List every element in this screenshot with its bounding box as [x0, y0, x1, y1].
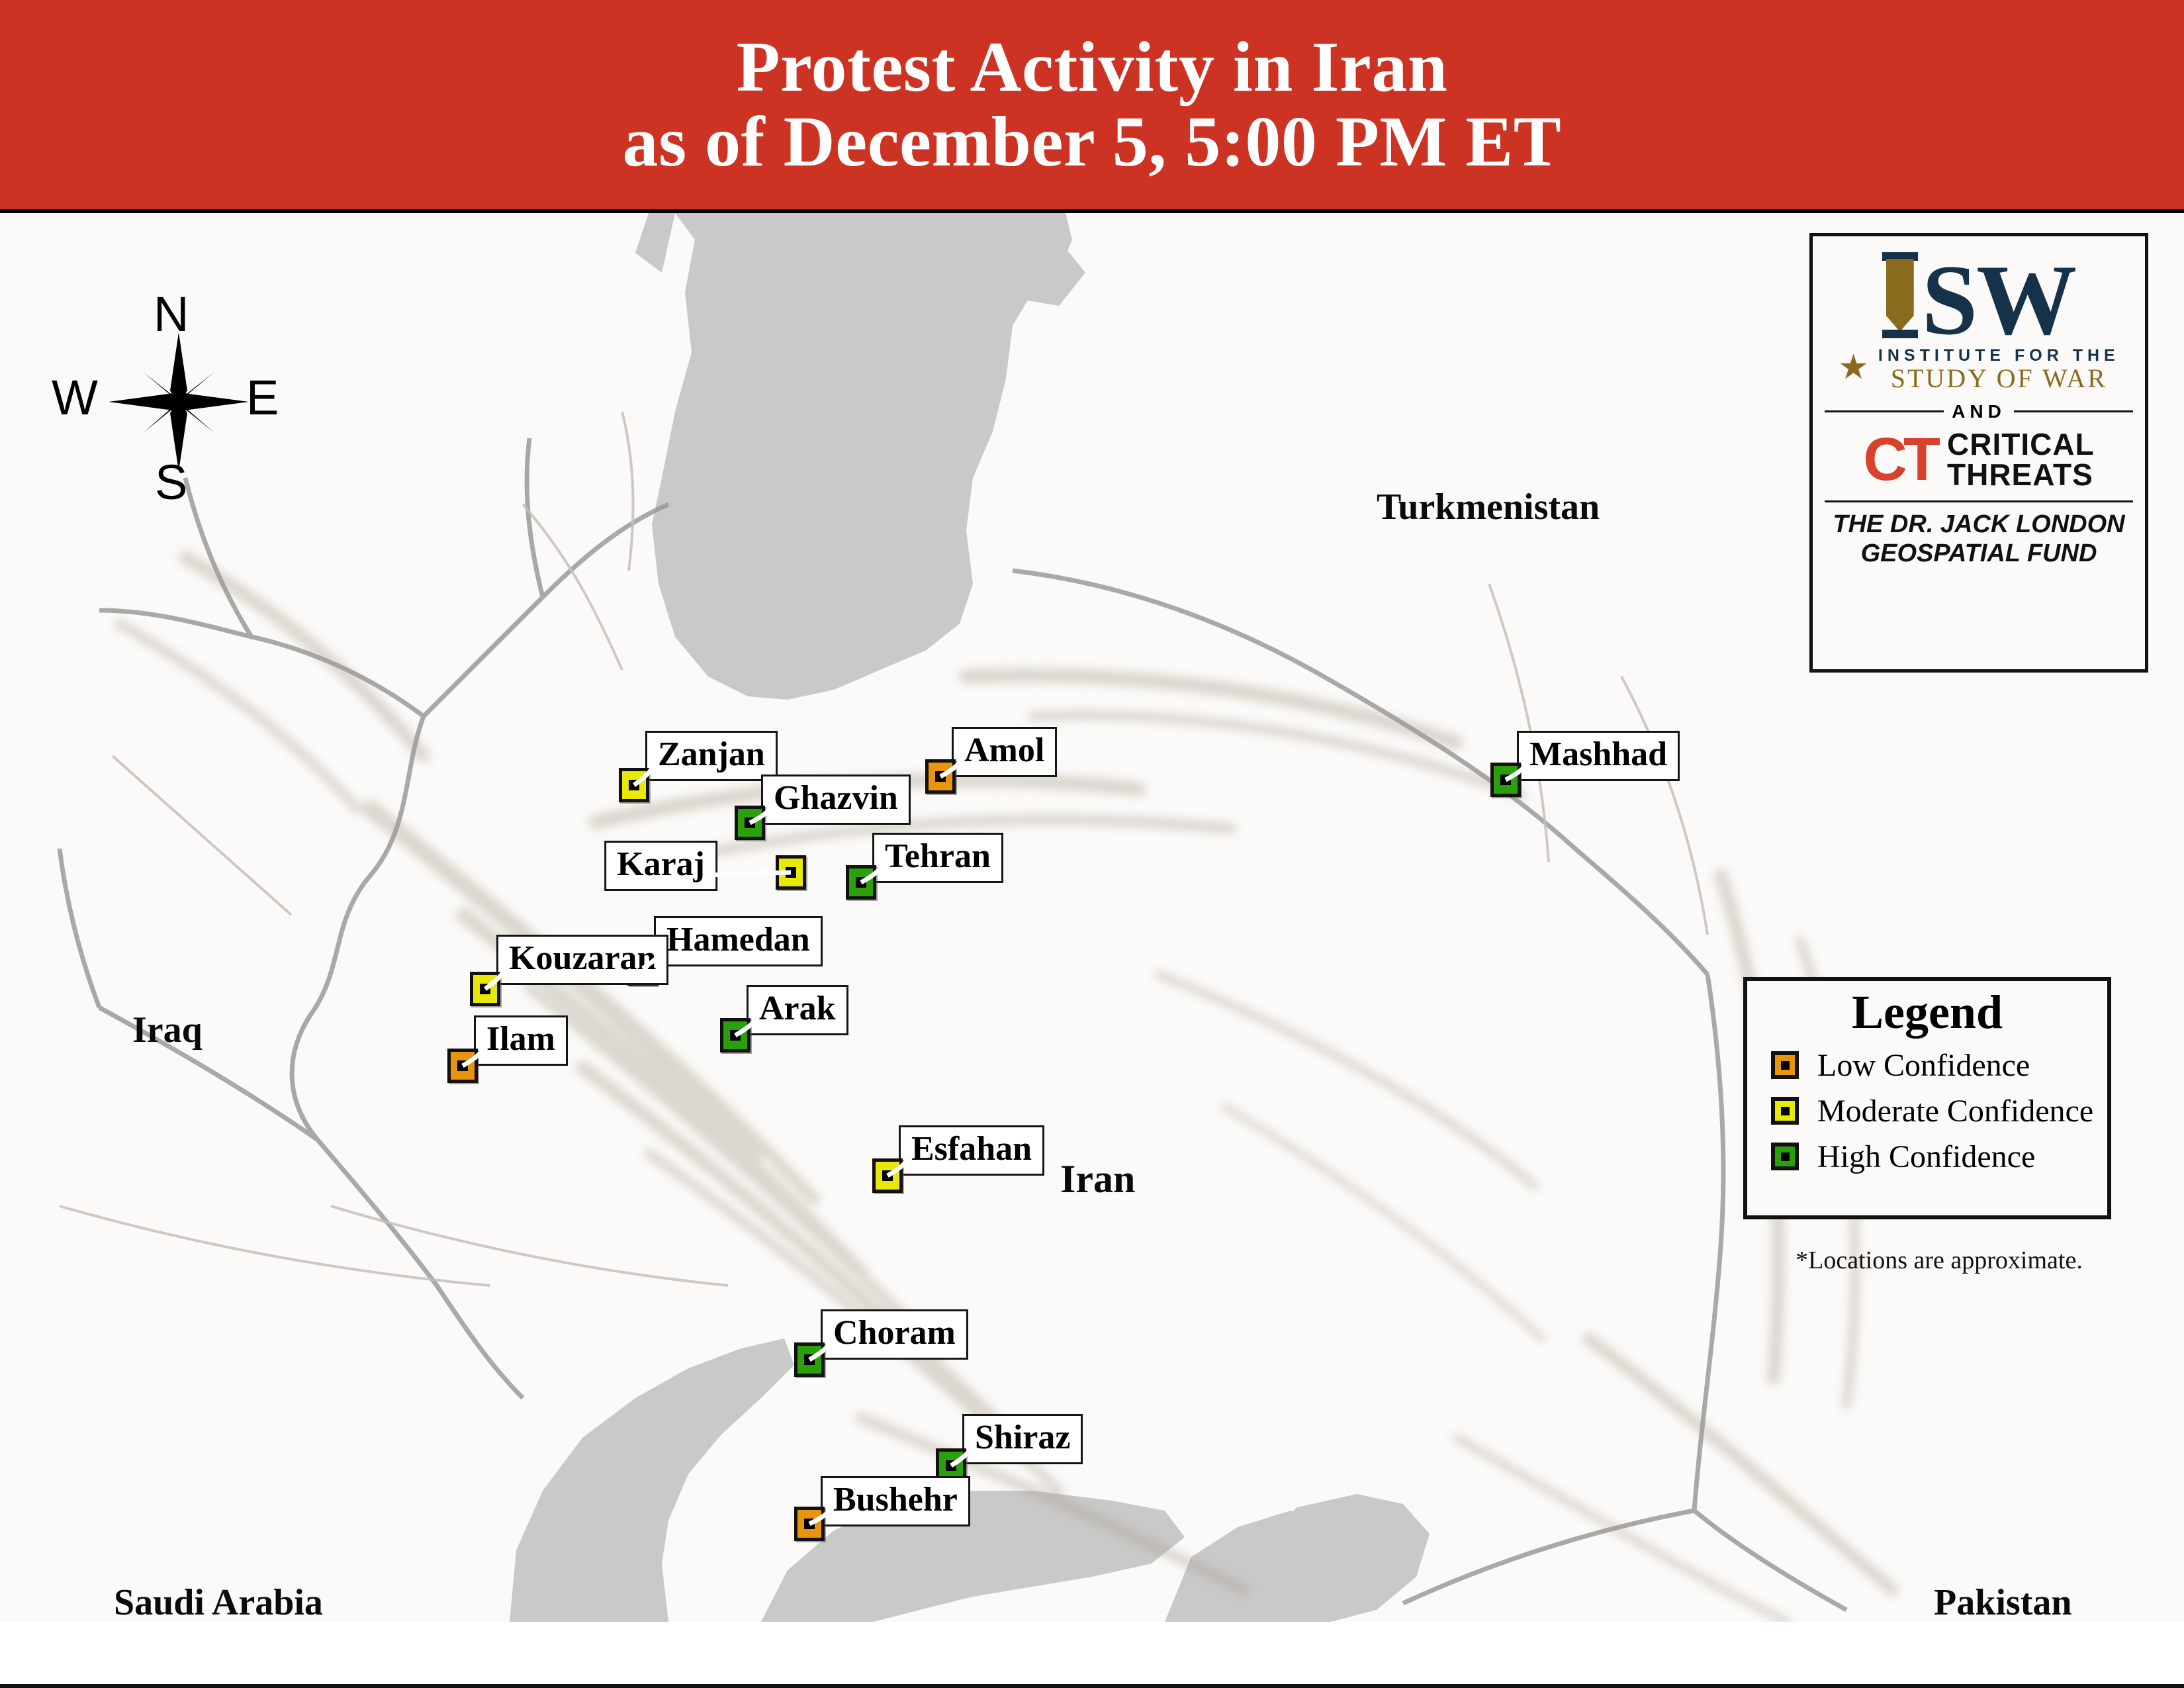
legend-swatch-center-dot: [1781, 1061, 1790, 1070]
compass-label-south: S: [155, 458, 187, 507]
site-callout-choram[interactable]: Choram: [821, 1309, 968, 1360]
site-marker-kouzaran[interactable]: [470, 972, 500, 1006]
country-label-turkmenistan: Turkmenistan: [1377, 486, 1600, 528]
site-marker-amol[interactable]: [925, 759, 956, 794]
legend-label-moderate: Moderate Confidence: [1817, 1093, 2093, 1129]
isw-sw-letters: SW: [1922, 252, 2076, 349]
site-marker-center-dot: [745, 818, 755, 828]
site-marker-center-dot: [786, 867, 796, 878]
country-label-iraq: Iraq: [132, 1009, 203, 1051]
site-marker-center-dot: [457, 1060, 468, 1071]
site-marker-center-dot: [882, 1170, 893, 1181]
legend-item-moderate: Moderate Confidence: [1771, 1093, 2093, 1129]
site-marker-zanjan[interactable]: [619, 768, 649, 802]
site-marker-ilam[interactable]: [447, 1049, 478, 1083]
site-marker-center-dot: [935, 771, 946, 782]
site-marker-mashhad[interactable]: [1490, 763, 1521, 797]
legend-swatch-low: [1771, 1051, 1799, 1079]
compass-rose: N E S W: [99, 312, 258, 485]
bottom-rule: [0, 1684, 2184, 1688]
ct-mark-icon: CT: [1863, 432, 1936, 487]
critical-threats-lockup: CT CRITICAL THREATS: [1863, 429, 2094, 490]
country-label-iran: Iran: [1060, 1156, 1135, 1202]
isw-star-icon: ★: [1838, 351, 1869, 385]
site-marker-center-dot: [946, 1460, 956, 1471]
legend-swatch-high: [1771, 1143, 1799, 1170]
isw-i-glyph: [1882, 252, 1918, 338]
ct-line-1: CRITICAL: [1947, 429, 2095, 459]
country-label-pakistan: Pakistan: [1934, 1581, 2072, 1622]
site-marker-center-dot: [856, 877, 866, 888]
site-marker-center-dot: [804, 1519, 815, 1529]
logo-and-label: AND: [1952, 401, 2006, 422]
legend-item-high: High Confidence: [1771, 1139, 2093, 1175]
isw-tagline-1: INSTITUTE FOR THE: [1878, 346, 2120, 365]
legend-item-low: Low Confidence: [1771, 1047, 2093, 1084]
site-callout-mashhad[interactable]: Mashhad: [1517, 731, 1680, 781]
map-poster: Protest Activity in Iran as of December …: [0, 0, 2184, 1688]
site-callout-shiraz[interactable]: Shiraz: [962, 1414, 1083, 1464]
site-marker-center-dot: [804, 1354, 815, 1365]
compass-label-north: N: [154, 290, 189, 339]
site-marker-arak[interactable]: [720, 1018, 751, 1053]
site-marker-center-dot: [480, 984, 490, 994]
site-callout-zanjan[interactable]: Zanjan: [645, 731, 778, 781]
fund-line-2: GEOSPATIAL FUND: [1833, 539, 2124, 569]
site-callout-arak[interactable]: Arak: [747, 985, 848, 1035]
site-callout-ghazvin[interactable]: Ghazvin: [761, 774, 911, 825]
title-line-1: Protest Activity in Iran: [737, 30, 1448, 105]
site-marker-tehran[interactable]: [846, 865, 876, 900]
site-marker-center-dot: [1500, 774, 1511, 785]
site-callout-kouzaran[interactable]: Kouzaran: [496, 935, 668, 985]
site-callout-hamedan[interactable]: Hamedan: [654, 916, 823, 966]
site-callout-esfahan[interactable]: Esfahan: [899, 1125, 1044, 1176]
site-marker-ghazvin[interactable]: [735, 806, 765, 840]
fund-line-1: THE DR. JACK LONDON: [1833, 510, 2124, 539]
site-callout-tehran[interactable]: Tehran: [872, 833, 1003, 883]
site-callout-bushehr[interactable]: Bushehr: [821, 1476, 970, 1526]
site-callout-karaj[interactable]: Karaj: [604, 841, 717, 891]
site-marker-karaj[interactable]: [776, 855, 806, 890]
legend-swatch-center-dot: [1781, 1107, 1790, 1115]
title-banner: Protest Activity in Iran as of December …: [0, 0, 2184, 213]
site-callout-amol[interactable]: Amol: [952, 727, 1057, 777]
legend-title: Legend: [1762, 988, 2093, 1038]
legend-note: *Locations are approximate.: [1780, 1246, 2098, 1275]
site-marker-center-dot: [629, 780, 639, 790]
legend-rows: Low ConfidenceModerate ConfidenceHigh Co…: [1762, 1047, 2093, 1175]
site-marker-center-dot: [730, 1030, 741, 1041]
logo-and-divider: AND: [1825, 401, 2133, 422]
map-canvas[interactable]: Turkmenistan Iraq Iran Saudi Arabia Paki…: [0, 213, 2184, 1622]
site-marker-choram[interactable]: [794, 1342, 825, 1377]
legend-swatch-moderate: [1771, 1097, 1799, 1125]
legend-box: Legend Low ConfidenceModerate Confidence…: [1743, 977, 2111, 1219]
site-marker-bushehr[interactable]: [794, 1507, 825, 1541]
country-label-saudi-arabia: Saudi Arabia: [114, 1581, 323, 1622]
title-line-2: as of December 5, 5:00 PM ET: [623, 105, 1562, 179]
compass-label-west: W: [52, 373, 98, 422]
ct-line-2: THREATS: [1947, 459, 2095, 490]
site-marker-esfahan[interactable]: [872, 1158, 903, 1193]
legend-label-low: Low Confidence: [1817, 1047, 2030, 1084]
legend-swatch-center-dot: [1781, 1152, 1790, 1161]
isw-wordmark: SW: [1882, 252, 2076, 349]
logo-fund-divider: [1825, 500, 2133, 502]
compass-label-east: E: [246, 373, 279, 422]
isw-logo-box: SW ★ INSTITUTE FOR THE STUDY OF WAR AND …: [1809, 233, 2148, 673]
isw-tagline-2: STUDY OF WAR: [1891, 365, 2107, 392]
site-callout-ilam[interactable]: Ilam: [474, 1015, 568, 1066]
legend-label-high: High Confidence: [1817, 1139, 2035, 1175]
